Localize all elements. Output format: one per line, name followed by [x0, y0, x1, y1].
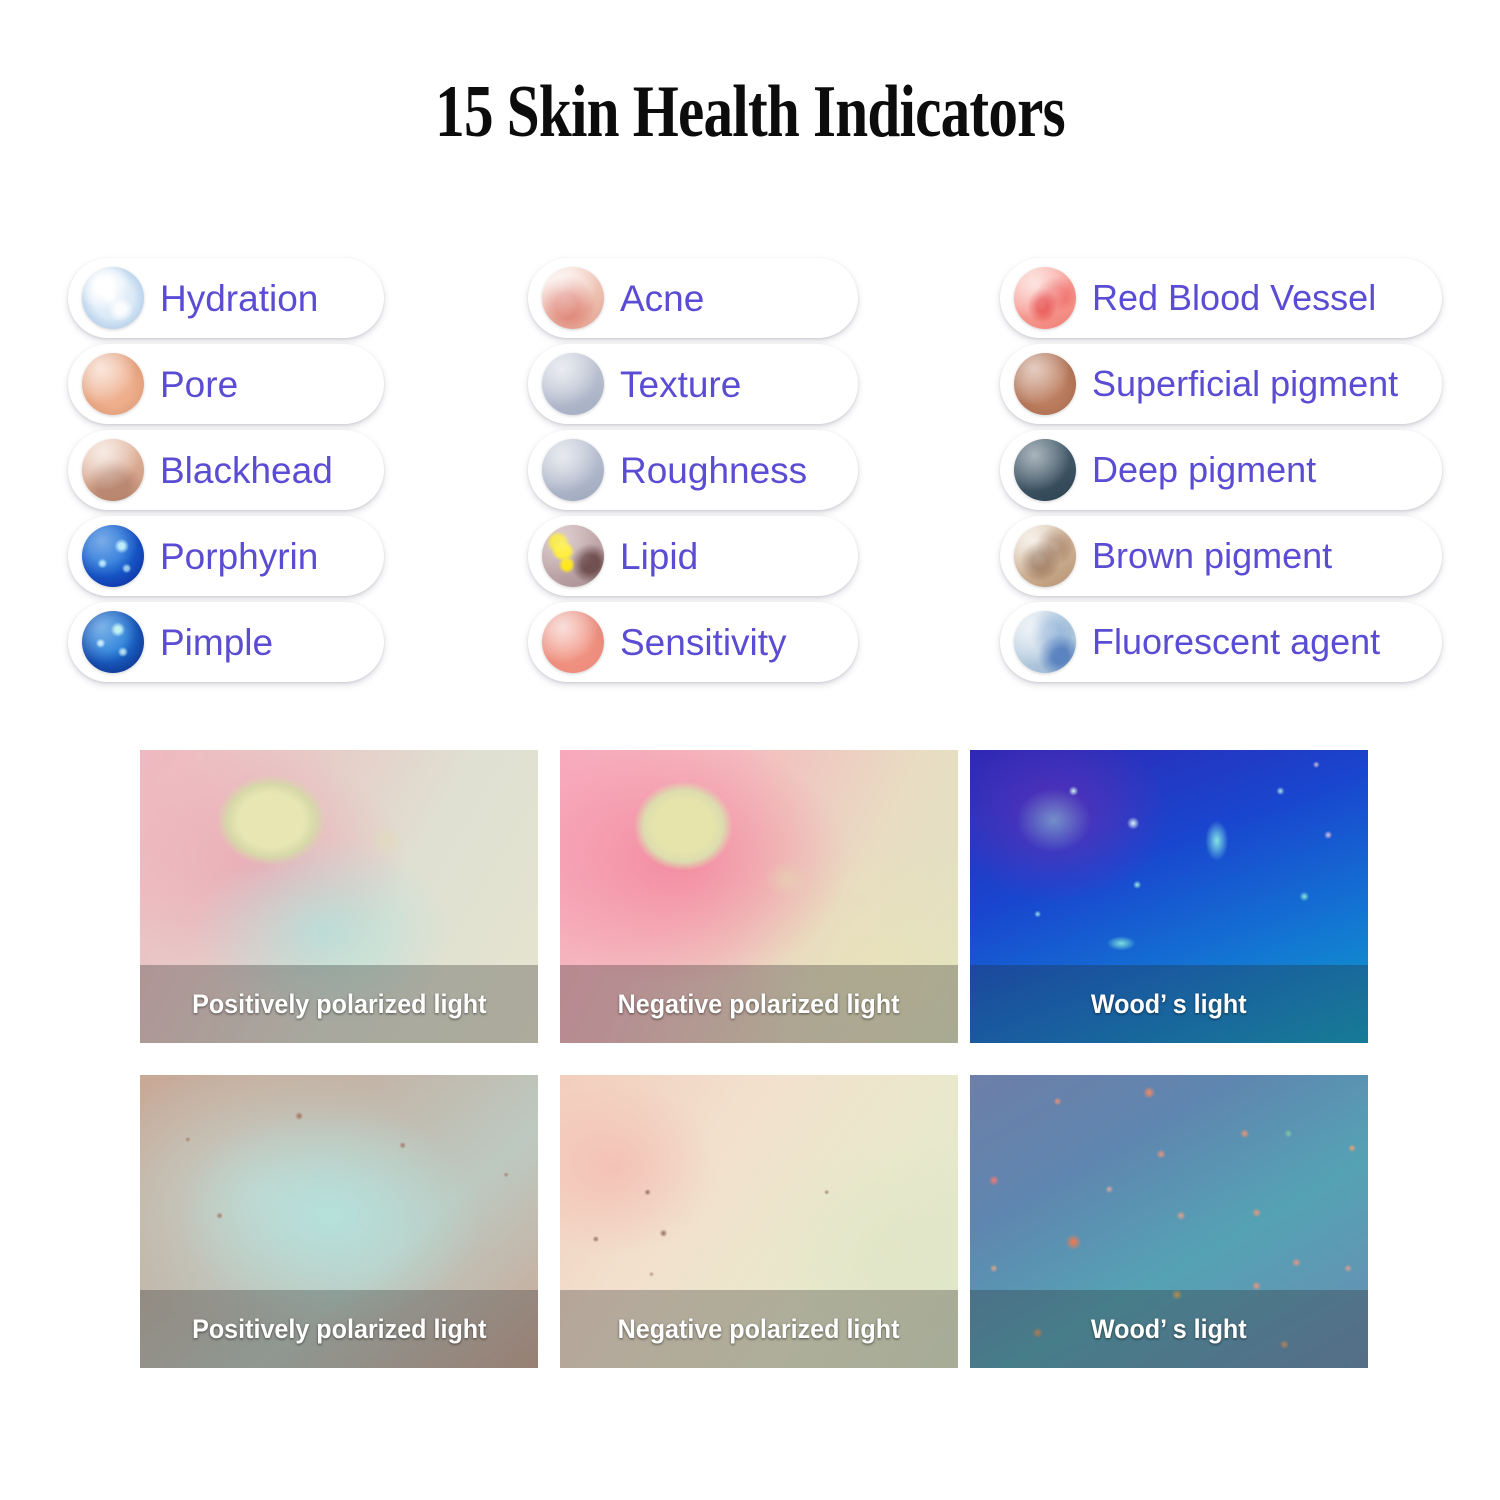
indicator-board: HydrationPoreBlackheadPorphyrinPimple Ac… [0, 258, 1500, 718]
indicator-label: Brown pigment [1092, 538, 1332, 574]
pimple-swatch-icon [82, 611, 144, 673]
fluorescent-agent-swatch-icon [1014, 611, 1076, 673]
indicator-pill-deep-pigment[interactable]: Deep pigment [1000, 430, 1442, 510]
indicator-label: Roughness [620, 452, 807, 489]
indicator-column-3: Red Blood VesselSuperficial pigmentDeep … [1000, 258, 1442, 688]
indicator-pill-blackhead[interactable]: Blackhead [68, 430, 384, 510]
indicator-label: Blackhead [160, 452, 333, 489]
indicator-pill-lipid[interactable]: Lipid [528, 516, 858, 596]
photo-positively-polarized-1[interactable]: Positively polarized light [140, 750, 538, 1043]
superficial-pigment-swatch-icon [1014, 353, 1076, 415]
indicator-pill-red-blood-vessel[interactable]: Red Blood Vessel [1000, 258, 1442, 338]
roughness-swatch-icon [542, 439, 604, 501]
indicator-pill-brown-pigment[interactable]: Brown pigment [1000, 516, 1442, 596]
photo-caption-band: Wood’ s light [970, 1290, 1368, 1368]
hydration-swatch-icon [82, 267, 144, 329]
indicator-pill-fluorescent-agent[interactable]: Fluorescent agent [1000, 602, 1442, 682]
sensitivity-swatch-icon [542, 611, 604, 673]
photo-negative-polarized-2[interactable]: Negative polarized light [560, 1075, 958, 1368]
indicator-column-2: AcneTextureRoughnessLipidSensitivity [528, 258, 858, 688]
indicator-pill-pimple[interactable]: Pimple [68, 602, 384, 682]
photo-caption-text: Negative polarized light [618, 989, 900, 1020]
indicator-label: Pore [160, 366, 238, 403]
sample-photo-grid: Positively polarized lightNegative polar… [140, 750, 1372, 1390]
photo-caption-band: Negative polarized light [560, 1290, 958, 1368]
indicator-pill-porphyrin[interactable]: Porphyrin [68, 516, 384, 596]
indicator-label: Superficial pigment [1092, 366, 1398, 402]
deep-pigment-swatch-icon [1014, 439, 1076, 501]
photo-caption-band: Negative polarized light [560, 965, 958, 1043]
red-blood-vessel-swatch-icon [1014, 267, 1076, 329]
texture-swatch-icon [542, 353, 604, 415]
indicator-label: Fluorescent agent [1092, 624, 1380, 660]
pore-swatch-icon [82, 353, 144, 415]
indicator-pill-pore[interactable]: Pore [68, 344, 384, 424]
photo-caption-text: Wood’ s light [1091, 1314, 1247, 1345]
indicator-pill-texture[interactable]: Texture [528, 344, 858, 424]
indicator-label: Texture [620, 366, 741, 403]
photo-positively-polarized-2[interactable]: Positively polarized light [140, 1075, 538, 1368]
indicator-label: Acne [620, 280, 704, 317]
photo-caption-text: Positively polarized light [192, 989, 486, 1020]
indicator-pill-roughness[interactable]: Roughness [528, 430, 858, 510]
photo-caption-text: Positively polarized light [192, 1314, 486, 1345]
indicator-label: Red Blood Vessel [1092, 280, 1376, 316]
indicator-label: Sensitivity [620, 624, 787, 661]
acne-swatch-icon [542, 267, 604, 329]
photo-woods-light-1[interactable]: Wood’ s light [970, 750, 1368, 1043]
indicator-pill-superficial-pigment[interactable]: Superficial pigment [1000, 344, 1442, 424]
photo-caption-band: Positively polarized light [140, 965, 538, 1043]
indicator-pill-hydration[interactable]: Hydration [68, 258, 384, 338]
lipid-swatch-icon [542, 525, 604, 587]
indicator-pill-sensitivity[interactable]: Sensitivity [528, 602, 858, 682]
indicator-pill-acne[interactable]: Acne [528, 258, 858, 338]
brown-pigment-swatch-icon [1014, 525, 1076, 587]
porphyrin-swatch-icon [82, 525, 144, 587]
indicator-label: Deep pigment [1092, 452, 1316, 488]
indicator-label: Porphyrin [160, 538, 318, 575]
indicator-column-1: HydrationPoreBlackheadPorphyrinPimple [68, 258, 384, 688]
photo-caption-text: Negative polarized light [618, 1314, 900, 1345]
photo-negative-polarized-1[interactable]: Negative polarized light [560, 750, 958, 1043]
blackhead-swatch-icon [82, 439, 144, 501]
photo-caption-band: Wood’ s light [970, 965, 1368, 1043]
indicator-label: Pimple [160, 624, 273, 661]
photo-caption-text: Wood’ s light [1091, 989, 1247, 1020]
photo-caption-band: Positively polarized light [140, 1290, 538, 1368]
indicator-label: Lipid [620, 538, 698, 575]
page-title: 15 Skin Health Indicators [150, 70, 1350, 155]
indicator-label: Hydration [160, 280, 318, 317]
photo-woods-light-2[interactable]: Wood’ s light [970, 1075, 1368, 1368]
